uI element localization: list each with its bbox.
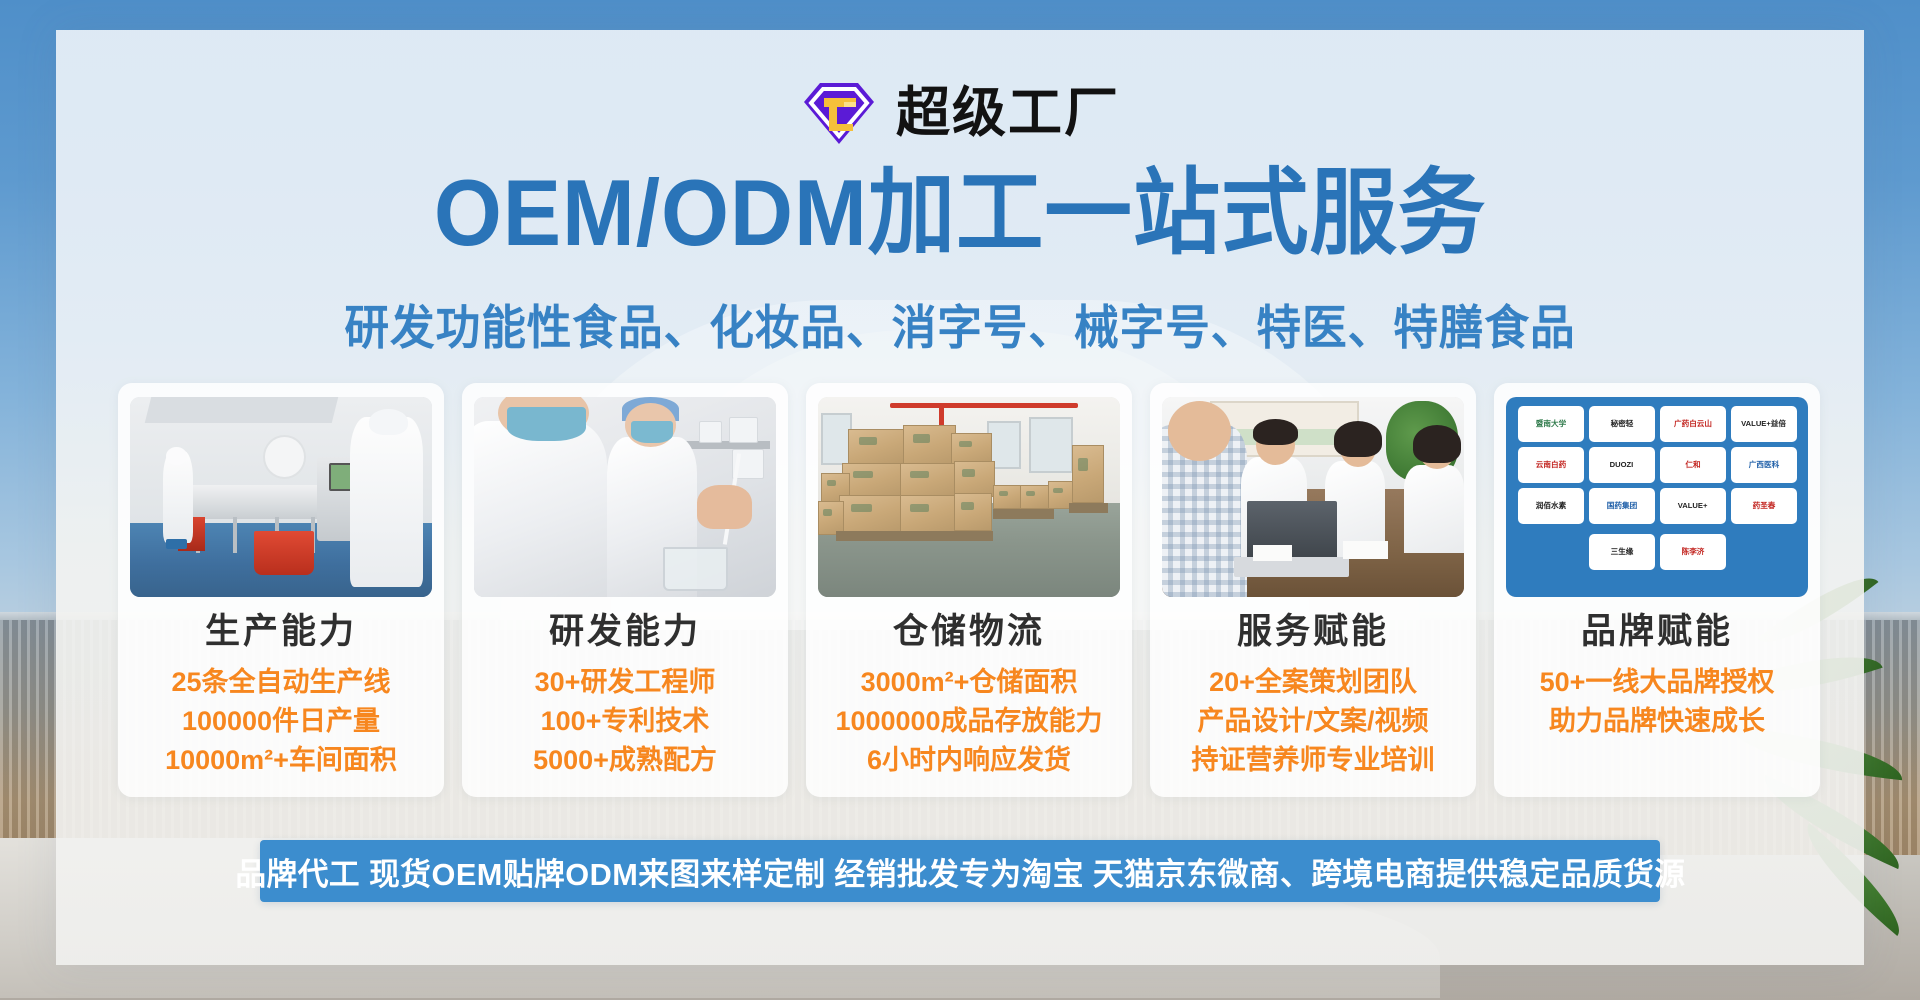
partner-logo-label: 三生缘 bbox=[1610, 548, 1633, 556]
card-stat: 10000m²+车间面积 bbox=[165, 741, 397, 780]
bottom-ribbon: 品牌代工 现货OEM贴牌ODM来图来样定制 经销批发专为淘宝 天猫京东微商、跨境… bbox=[260, 840, 1660, 902]
partner-logo-tile: 云南白药 bbox=[1518, 447, 1584, 483]
partner-logo-label: 秘密轻 bbox=[1610, 420, 1633, 428]
partner-logo-tile: DUOZI bbox=[1589, 447, 1655, 483]
card-title: 仓储物流 bbox=[893, 613, 1045, 652]
partner-logo-grid: 暨南大学 秘密轻 广药白云山 VALUE+益倍 云南白药 bbox=[1515, 406, 1799, 570]
feature-card-service[interactable]: 服务赋能 20+全案策划团队 产品设计/文案/视频 持证营养师专业培训 bbox=[1150, 383, 1476, 797]
partner-logo-tile: 仁和 bbox=[1660, 447, 1726, 483]
card-stat: 6小时内响应发货 bbox=[835, 741, 1102, 780]
card-stat: 助力品牌快速成长 bbox=[1540, 702, 1775, 741]
page-title: OEM/ODM加工一站式服务 bbox=[67, 160, 1853, 265]
partner-logo-label: 润佰水素 bbox=[1535, 502, 1565, 510]
card-stat: 3000m²+仓储面积 bbox=[835, 663, 1102, 702]
feature-card-row: 生产能力 25条全自动生产线 100000件日产量 10000m²+车间面积 bbox=[118, 383, 1808, 797]
card-stat-list: 30+研发工程师 100+专利技术 5000+成熟配方 bbox=[533, 663, 717, 781]
partner-logo-label: 广西医科 bbox=[1748, 461, 1778, 469]
partner-logo-label: 广药白云山 bbox=[1674, 420, 1712, 428]
card-stat: 30+研发工程师 bbox=[533, 663, 717, 702]
card-stat: 产品设计/文案/视频 bbox=[1192, 702, 1435, 741]
card-image-brand-logo-grid: 暨南大学 秘密轻 广药白云山 VALUE+益倍 云南白药 bbox=[1506, 397, 1808, 597]
bottom-ribbon-text: 品牌代工 现货OEM贴牌ODM来图来样定制 经销批发专为淘宝 天猫京东微商、跨境… bbox=[235, 849, 1685, 894]
partner-logo-tile: 秘密轻 bbox=[1589, 406, 1655, 442]
page-subtitle: 研发功能性食品、化妆品、消字号、械字号、特医、特膳食品 bbox=[48, 300, 1872, 356]
feature-card-warehouse[interactable]: 仓储物流 3000m²+仓储面积 1000000成品存放能力 6小时内响应发货 bbox=[806, 383, 1132, 797]
card-stat: 持证营养师专业培训 bbox=[1192, 741, 1435, 780]
super-factory-diamond-icon bbox=[800, 78, 878, 148]
feature-card-production[interactable]: 生产能力 25条全自动生产线 100000件日产量 10000m²+车间面积 bbox=[118, 383, 444, 797]
partner-logo-tile: 陈李济 bbox=[1660, 534, 1726, 570]
card-stat-list: 3000m²+仓储面积 1000000成品存放能力 6小时内响应发货 bbox=[835, 663, 1102, 781]
partner-logo-label: VALUE+ bbox=[1678, 502, 1708, 510]
partner-logo-label: 云南白药 bbox=[1535, 461, 1565, 469]
brand-logo-row: 超级工厂 bbox=[0, 78, 1920, 148]
card-stat: 25条全自动生产线 bbox=[165, 663, 397, 702]
feature-card-rnd[interactable]: 研发能力 30+研发工程师 100+专利技术 5000+成熟配方 bbox=[462, 383, 788, 797]
card-image-production bbox=[130, 397, 432, 597]
partner-logo-label: 仁和 bbox=[1685, 461, 1700, 469]
card-stat: 50+一线大品牌授权 bbox=[1540, 663, 1775, 702]
partner-logo-label: VALUE+益倍 bbox=[1741, 420, 1786, 428]
card-stat: 100000件日产量 bbox=[165, 702, 397, 741]
partner-logo-tile: 药圣春 bbox=[1731, 488, 1797, 524]
partner-logo-tile: 三生缘 bbox=[1589, 534, 1655, 570]
partner-logo-tile: VALUE+益倍 bbox=[1731, 406, 1797, 442]
card-stat-list: 50+一线大品牌授权 助力品牌快速成长 bbox=[1540, 663, 1775, 742]
card-title: 服务赋能 bbox=[1237, 613, 1389, 652]
partner-logo-tile: VALUE+ bbox=[1660, 488, 1726, 524]
card-image-service bbox=[1162, 397, 1464, 597]
partner-logo-tile: 广药白云山 bbox=[1660, 406, 1726, 442]
partner-logo-label: DUOZI bbox=[1610, 461, 1634, 469]
partner-logo-label: 国药集团 bbox=[1606, 502, 1636, 510]
card-title: 品牌赋能 bbox=[1581, 613, 1733, 652]
partner-logo-tile: 国药集团 bbox=[1589, 488, 1655, 524]
card-stat-list: 25条全自动生产线 100000件日产量 10000m²+车间面积 bbox=[165, 663, 397, 781]
partner-logo-label: 陈李济 bbox=[1681, 548, 1704, 556]
partner-logo-tile: 广西医科 bbox=[1731, 447, 1797, 483]
partner-logo-label: 暨南大学 bbox=[1535, 420, 1565, 428]
card-title: 研发能力 bbox=[549, 613, 701, 652]
promo-banner: 超级工厂 OEM/ODM加工一站式服务 研发功能性食品、化妆品、消字号、械字号、… bbox=[0, 0, 1920, 1000]
card-image-warehouse bbox=[818, 397, 1120, 597]
card-title: 生产能力 bbox=[205, 613, 357, 652]
partner-logo-label: 药圣春 bbox=[1752, 502, 1775, 510]
card-stat-list: 20+全案策划团队 产品设计/文案/视频 持证营养师专业培训 bbox=[1192, 663, 1435, 781]
partner-logo-tile: 润佰水素 bbox=[1518, 488, 1584, 524]
card-stat: 1000000成品存放能力 bbox=[835, 702, 1102, 741]
feature-card-brand[interactable]: 暨南大学 秘密轻 广药白云山 VALUE+益倍 云南白药 bbox=[1494, 383, 1820, 797]
partner-logo-tile: 暨南大学 bbox=[1518, 406, 1584, 442]
card-stat: 20+全案策划团队 bbox=[1192, 663, 1435, 702]
card-stat: 5000+成熟配方 bbox=[533, 741, 717, 780]
card-stat: 100+专利技术 bbox=[533, 702, 717, 741]
card-image-rnd bbox=[474, 397, 776, 597]
brand-name: 超级工厂 bbox=[896, 86, 1120, 140]
